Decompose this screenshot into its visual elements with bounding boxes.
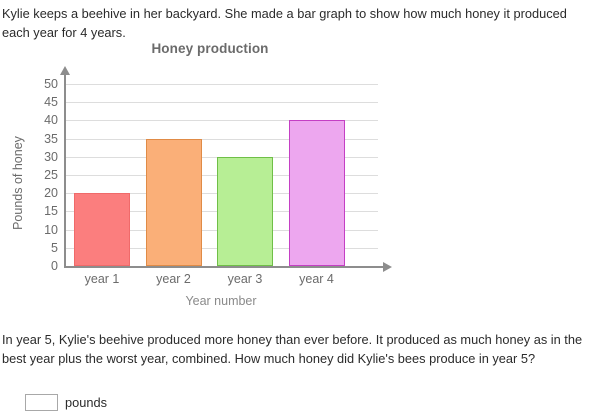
bar-year-1 bbox=[74, 193, 130, 266]
question-followup: In year 5, Kylie's beehive produced more… bbox=[2, 330, 598, 368]
x-axis-arrow-icon bbox=[383, 262, 392, 272]
x-tick-label: year 3 bbox=[228, 272, 263, 286]
x-tick-label: year 4 bbox=[299, 272, 334, 286]
bar-year-2 bbox=[146, 139, 202, 266]
x-axis-line bbox=[64, 266, 384, 268]
y-axis-arrow-icon bbox=[60, 66, 70, 75]
x-tick-label: year 2 bbox=[156, 272, 191, 286]
x-tick-label: year 1 bbox=[85, 272, 120, 286]
bar-chart: Honey production 05101520253035404550 ye… bbox=[0, 36, 420, 326]
y-axis-title: Pounds of honey bbox=[11, 113, 25, 253]
chart-bars bbox=[66, 84, 380, 266]
y-axis-ticks: 05101520253035404550 bbox=[0, 36, 58, 326]
y-tick-label: 0 bbox=[6, 259, 58, 273]
y-tick-label: 45 bbox=[6, 95, 58, 109]
bar-year-3 bbox=[217, 157, 273, 266]
bar-year-4 bbox=[289, 120, 345, 266]
y-tick-label: 50 bbox=[6, 77, 58, 91]
x-axis-tick-labels: year 1year 2year 3year 4 bbox=[66, 272, 380, 290]
x-axis-title: Year number bbox=[64, 294, 378, 308]
chart-title: Honey production bbox=[0, 41, 420, 56]
answer-unit-label: pounds bbox=[65, 395, 107, 410]
answer-input[interactable] bbox=[25, 394, 58, 411]
answer-row: pounds bbox=[25, 394, 107, 411]
